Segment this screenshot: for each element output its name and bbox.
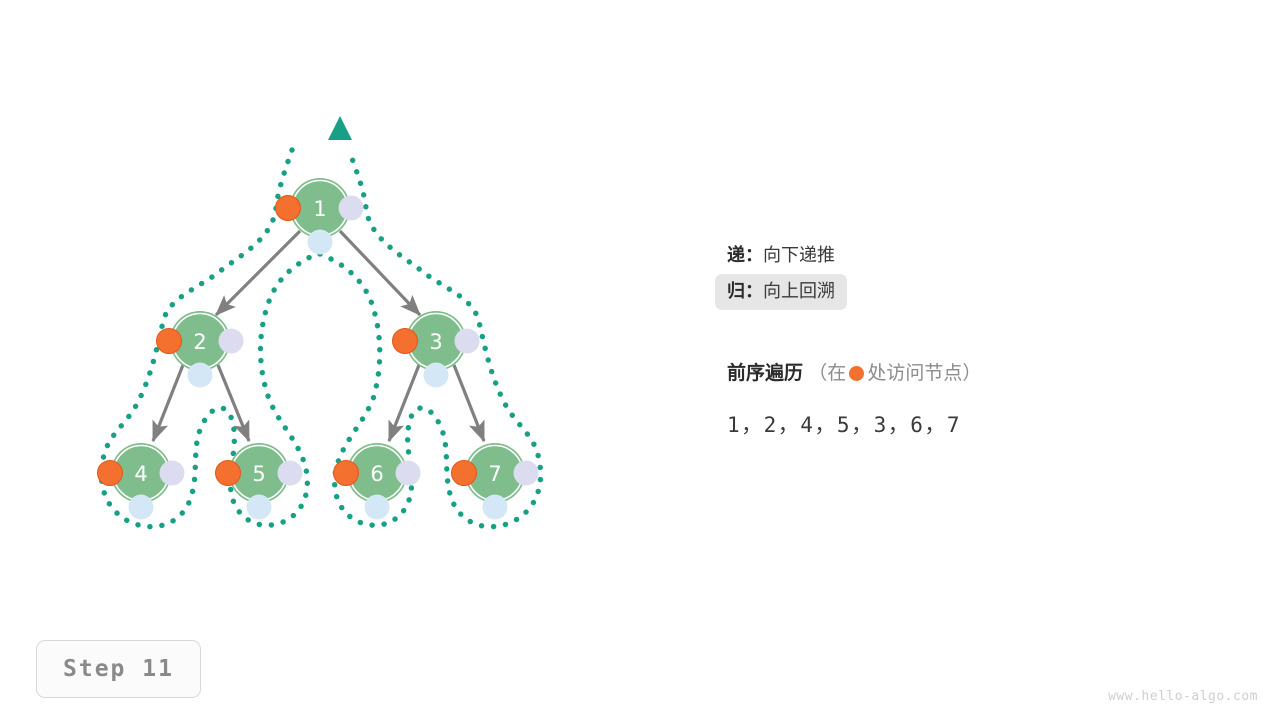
edge-3-6 — [389, 365, 419, 441]
legend-row-return: 归：向上回溯 — [715, 274, 847, 310]
edge-1-2 — [216, 231, 300, 315]
node-bottom-dot-icon — [188, 363, 213, 388]
node-right-dot-icon — [455, 329, 480, 354]
traversal-sequence: 1，2，4，5，3，6，7 — [727, 409, 1227, 439]
tree-node-7[interactable]: 7 — [452, 443, 539, 520]
current-position-marker-icon — [328, 116, 352, 140]
node-right-dot-icon — [339, 196, 364, 221]
node-visit-dot-icon — [216, 461, 241, 486]
traversal-heading: 前序遍历 （在处访问节点） — [727, 362, 1227, 387]
node-bottom-dot-icon — [424, 363, 449, 388]
watermark: www.hello-algo.com — [1108, 689, 1258, 704]
tree-node-6[interactable]: 6 — [334, 443, 421, 520]
legend-value: 向下递推 — [763, 245, 835, 265]
node-bottom-dot-icon — [129, 495, 154, 520]
node-label: 5 — [252, 462, 265, 486]
node-right-dot-icon — [396, 461, 421, 486]
node-label: 3 — [429, 330, 442, 354]
node-visit-dot-icon — [393, 329, 418, 354]
legend-row-recurse: 递：向下递推 — [715, 238, 847, 274]
legend-value: 向上回溯 — [763, 281, 835, 301]
traversal-paren-close: 处访问节点） — [867, 363, 981, 384]
orange-dot-icon — [849, 366, 864, 381]
node-visit-dot-icon — [334, 461, 359, 486]
node-right-dot-icon — [278, 461, 303, 486]
tree-node-2[interactable]: 2 — [157, 311, 244, 388]
node-right-dot-icon — [160, 461, 185, 486]
node-bottom-dot-icon — [483, 495, 508, 520]
edge-2-4 — [153, 365, 183, 441]
tree-node-4[interactable]: 4 — [98, 443, 185, 520]
node-right-dot-icon — [219, 329, 244, 354]
node-bottom-dot-icon — [365, 495, 390, 520]
node-label: 1 — [313, 197, 326, 221]
node-bottom-dot-icon — [308, 230, 333, 255]
node-label: 6 — [370, 462, 383, 486]
traversal-result: 前序遍历 （在处访问节点） 1，2，4，5，3，6，7 — [727, 362, 1227, 439]
legend-key: 递： — [727, 245, 763, 265]
legend-key: 归： — [727, 281, 763, 301]
node-right-dot-icon — [514, 461, 539, 486]
tree-node-3[interactable]: 3 — [393, 311, 480, 388]
binary-tree-diagram: 1 2 3 4 5 — [0, 0, 700, 600]
node-label: 2 — [193, 330, 206, 354]
node-visit-dot-icon — [276, 196, 301, 221]
step-badge: Step 11 — [36, 640, 201, 698]
edge-3-7 — [454, 365, 484, 441]
node-label: 7 — [488, 462, 501, 486]
traversal-paren-open: （在 — [808, 363, 846, 384]
node-visit-dot-icon — [157, 329, 182, 354]
node-visit-dot-icon — [98, 461, 123, 486]
node-label: 4 — [134, 462, 147, 486]
tree-node-5[interactable]: 5 — [216, 443, 303, 520]
node-visit-dot-icon — [452, 461, 477, 486]
recursion-legend: 递：向下递推 归：向上回溯 — [727, 238, 1187, 310]
traversal-name: 前序遍历 — [727, 363, 803, 384]
node-bottom-dot-icon — [247, 495, 272, 520]
